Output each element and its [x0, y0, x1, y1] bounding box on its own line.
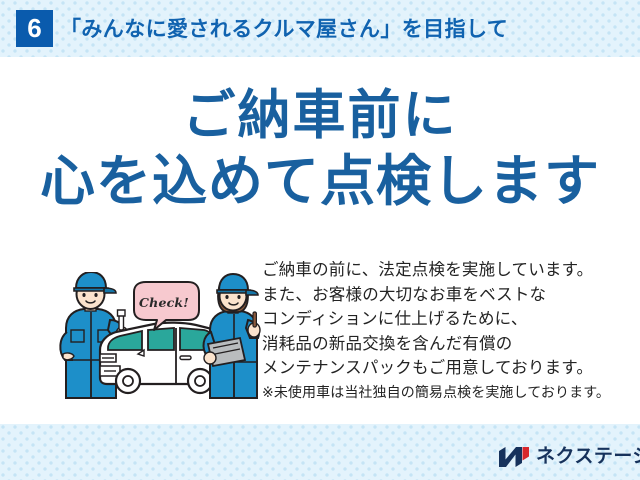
- headline: ご納車前に 心を込めて点検します: [0, 84, 640, 214]
- header-title: 「みんなに愛されるクルマ屋さん」を目指して: [60, 15, 508, 45]
- nextage-n-logo-icon: [498, 446, 530, 468]
- headline-line-2: 心を込めて点検します: [0, 148, 640, 214]
- headline-line-1: ご納車前に: [0, 84, 640, 148]
- speech-bubble-label: Check!: [136, 295, 192, 310]
- copy-line-2: また、お客様の大切なお車をベストな: [262, 283, 622, 308]
- promo-banner: 6 「みんなに愛されるクルマ屋さん」を目指して ご納車前に 心を込めて点検します: [0, 0, 640, 480]
- copy-note: ※未使用車は当社独自の簡易点検を実施しております。: [262, 381, 622, 404]
- copy-line-5: メンテナンスパックもご用意しております。: [262, 356, 622, 381]
- brand-name: ネクステージ: [536, 444, 640, 470]
- right-mechanic-figure: [204, 274, 260, 398]
- mechanics-and-vehicle-illustration: [58, 272, 263, 404]
- section-number-badge: 6: [16, 10, 53, 47]
- brand-logo: ネクステージ: [498, 444, 640, 470]
- copy-line-4: 消耗品の新品交換を含んだ有償の: [262, 332, 622, 357]
- copy-line-1: ご納車の前に、法定点検を実施しています。: [262, 258, 622, 283]
- copy-line-3: コンディションに仕上げるために、: [262, 307, 622, 332]
- body-copy: ご納車の前に、法定点検を実施しています。 また、お客様の大切なお車をベストな コ…: [262, 258, 622, 404]
